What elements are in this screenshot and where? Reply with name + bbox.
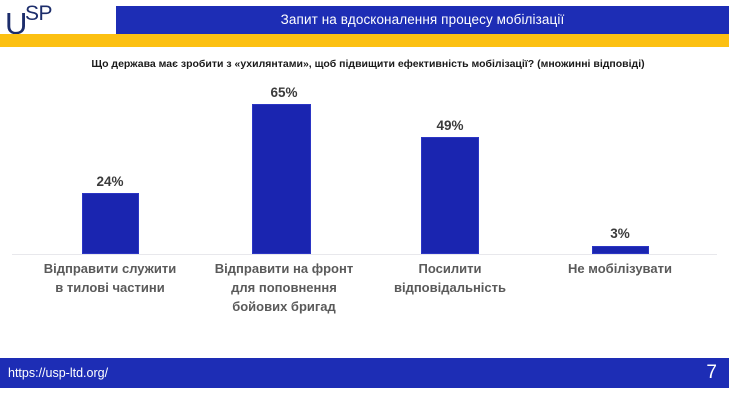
header-bar: Запит на вдосконалення процесу мобілізац… xyxy=(116,6,729,34)
bar-group-2: 65% Відправити на фронт для поповнення б… xyxy=(196,47,372,352)
category-label-1: Відправити служити в тилові частини xyxy=(32,260,188,298)
category-label-1-line-1: Відправити служити xyxy=(32,260,188,279)
bar-chart: 24% Відправити служити в тилові частини … xyxy=(0,47,729,352)
bar-column-3: 49% xyxy=(378,47,522,254)
bar-value-4: 3% xyxy=(538,227,702,241)
category-label-1-line-2: в тилові частини xyxy=(32,279,188,298)
footer-bar: https://usp-ltd.org/ 7 xyxy=(0,358,729,388)
category-label-4-line-1: Не мобілізувати xyxy=(538,260,702,279)
category-label-2-line-3: бойових бригад xyxy=(196,298,372,317)
bar-column-1: 24% xyxy=(32,47,188,254)
slide-title: Запит на вдосконалення процесу мобілізац… xyxy=(116,6,729,34)
category-label-2-line-1: Відправити на фронт xyxy=(196,260,372,279)
category-label-3-line-2: відповідальність xyxy=(378,279,522,298)
bar-value-1: 24% xyxy=(32,175,188,189)
bar-3[interactable] xyxy=(421,137,479,254)
bar-column-4: 3% xyxy=(538,47,702,254)
bar-value-2: 65% xyxy=(196,86,372,100)
bar-group-3: 49% Посилити відповідальність xyxy=(378,47,522,352)
category-label-2-line-2: для поповнення xyxy=(196,279,372,298)
bar-group-1: 24% Відправити служити в тилові частини xyxy=(32,47,188,352)
logo-letters-sp: SP xyxy=(25,3,52,24)
page-number: 7 xyxy=(706,358,717,388)
slide-canvas: U SP Запит на вдосконалення процесу мобі… xyxy=(0,0,729,410)
bar-4[interactable] xyxy=(592,246,649,254)
footer-url-link[interactable]: https://usp-ltd.org/ xyxy=(8,358,108,388)
bar-group-4: 3% Не мобілізувати xyxy=(538,47,702,352)
category-label-4: Не мобілізувати xyxy=(538,260,702,279)
bar-value-3: 49% xyxy=(378,119,522,133)
bar-column-2: 65% xyxy=(196,47,372,254)
bar-2[interactable] xyxy=(252,104,311,254)
accent-strip xyxy=(0,34,729,47)
bar-1[interactable] xyxy=(82,193,139,254)
category-label-3-line-1: Посилити xyxy=(378,260,522,279)
category-label-3: Посилити відповідальність xyxy=(378,260,522,298)
category-label-2: Відправити на фронт для поповнення бойов… xyxy=(196,260,372,317)
